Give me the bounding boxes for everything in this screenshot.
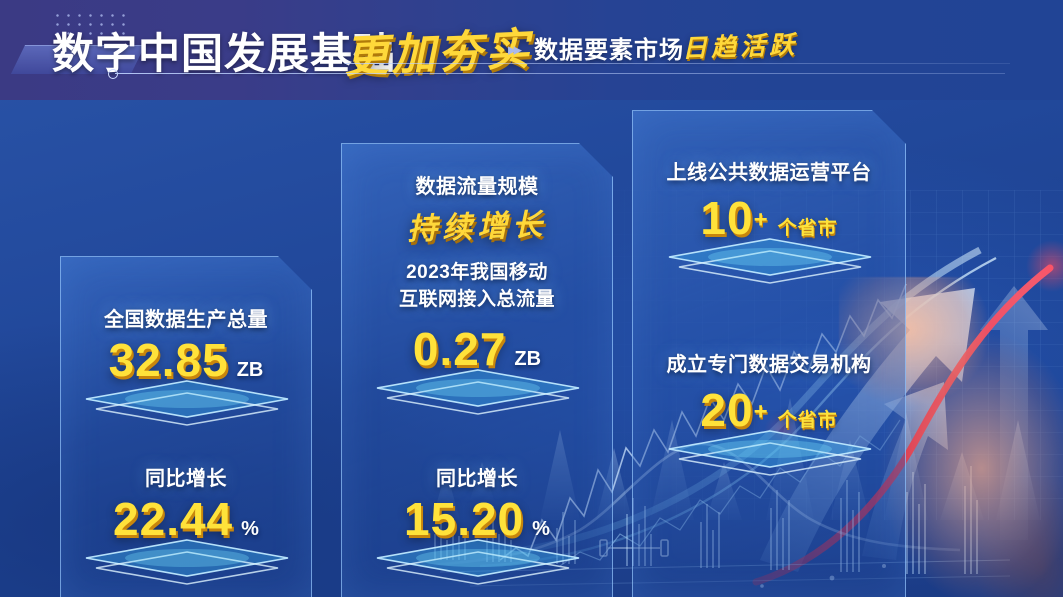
card3-block2-pedestal: [665, 429, 875, 475]
card3-block2-unit: 个省市: [778, 410, 838, 431]
card-national-data-production: 全国数据生产总量 32.85ZB 同比增长 22.44%: [60, 256, 312, 597]
card3-block1-unit: 个省市: [778, 218, 838, 239]
rule-start-dot-icon: [108, 69, 118, 79]
card3-block2-caption: 成立专门数据交易机构: [633, 348, 905, 377]
card2-block1-pedestal: [373, 368, 583, 414]
card2-block2-unit: %: [532, 518, 550, 540]
card2-block2-caption: 同比增长: [342, 462, 612, 491]
header: 数字中国发展基础 更加夯实 ▸▸ 数据要素市场 日趋活跃: [0, 0, 1063, 100]
double-chevron-right-icon: ▸▸: [508, 40, 519, 60]
header-rule-upper: [370, 63, 1010, 64]
header-rule: [115, 73, 1005, 74]
card3-block1-plus: +: [754, 207, 768, 234]
card1-block2-caption: 同比增长: [61, 462, 311, 491]
card-data-traffic-scale: 数据流量规模 持续增长 2023年我国移动 互联网接入总流量 0.27ZB 同比…: [341, 143, 613, 597]
card1-block2-unit: %: [241, 518, 259, 540]
card1-block1-pedestal: [82, 379, 292, 425]
card2-headline: 数据流量规模: [342, 170, 612, 199]
card3-block1-pedestal: [665, 237, 875, 283]
card2-block1-caption-line2: 互联网接入总流量: [342, 286, 612, 313]
card-public-data-platforms: 上线公共数据运营平台 10+个省市 成立专门数据交易机构 20+个省市: [632, 110, 906, 597]
card2-block2-pedestal: [373, 538, 583, 584]
card1-block2-pedestal: [82, 538, 292, 584]
card1-block1-unit: ZB: [237, 359, 264, 381]
card2-block1-caption-line1: 2023年我国移动: [342, 259, 612, 286]
infographic-poster: 数字中国发展基础 更加夯实 ▸▸ 数据要素市场 日趋活跃 全国数据生产总量 32…: [0, 0, 1063, 597]
page-subtitle-emphasis: 日趋活跃: [681, 25, 798, 65]
card3-block1-caption: 上线公共数据运营平台: [633, 156, 905, 185]
card2-headline-script: 持续增长: [341, 197, 612, 250]
card2-block1-unit: ZB: [514, 348, 541, 370]
card3-block2-plus: +: [754, 399, 768, 426]
page-subtitle: 数据要素市场: [534, 30, 684, 65]
card1-block1-caption: 全国数据生产总量: [61, 303, 311, 332]
